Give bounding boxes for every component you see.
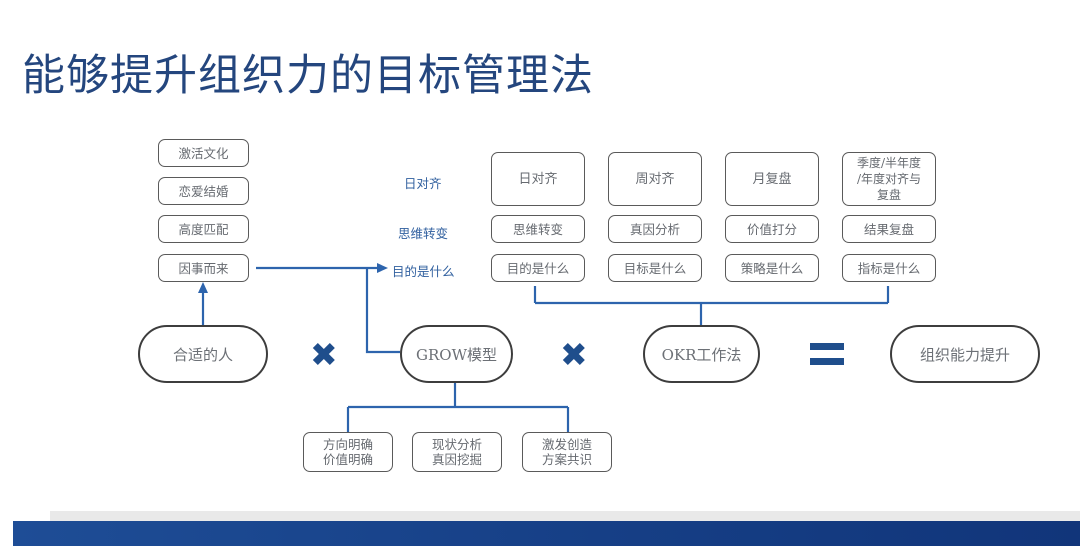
operator-times-2: ✖: [560, 338, 588, 371]
arrowhead-up: [198, 282, 208, 293]
footer-blue-bar: [13, 521, 1080, 546]
matrix-cell-c2-r3[interactable]: 目标是什么: [608, 254, 702, 282]
matrix-cell-c3-r3[interactable]: 策略是什么: [725, 254, 819, 282]
left-box-1-label: 激活文化: [178, 146, 228, 161]
equation-term-4-label: 组织能力提升: [920, 344, 1010, 365]
grow-outcome-box-2-label: 现状分析 真因挖掘: [432, 437, 482, 467]
stage-label-3: 目的是什么: [392, 261, 455, 280]
grow-outcome-box-1[interactable]: 方向明确 价值明确: [303, 432, 393, 472]
matrix-cell-c2-r2[interactable]: 真因分析: [608, 215, 702, 243]
matrix-cell-c4-r3-label: 指标是什么: [858, 261, 921, 276]
equation-term-suitable-people[interactable]: 合适的人: [138, 325, 268, 383]
matrix-cell-c1-r2[interactable]: 思维转变: [491, 215, 585, 243]
matrix-cell-c1-r2-label: 思维转变: [513, 222, 563, 237]
grow-outcome-box-2[interactable]: 现状分析 真因挖掘: [412, 432, 502, 472]
matrix-cell-c4-r3[interactable]: 指标是什么: [842, 254, 936, 282]
equation-term-capability-uplift[interactable]: 组织能力提升: [890, 325, 1040, 383]
matrix-cell-c1-r3-label: 目的是什么: [507, 261, 570, 276]
slide-canvas: 能够提升组织力的目标管理法 激活文化: [0, 0, 1080, 546]
left-box-2[interactable]: 恋爱结婚: [158, 177, 249, 205]
left-box-3[interactable]: 高度匹配: [158, 215, 249, 243]
matrix-cell-c1-r3[interactable]: 目的是什么: [491, 254, 585, 282]
equation-term-okr-method[interactable]: OKR工作法: [643, 325, 760, 383]
matrix-cell-c2-r1-label: 周对齐: [635, 172, 674, 187]
grow-outcome-box-3-label: 激发创造 方案共识: [542, 437, 592, 467]
left-box-2-label: 恋爱结婚: [178, 184, 228, 199]
matrix-cell-c2-r2-label: 真因分析: [630, 222, 680, 237]
equals-bar-top: [810, 343, 844, 350]
arrowhead-right: [377, 263, 388, 273]
left-box-1[interactable]: 激活文化: [158, 139, 249, 167]
stage-label-1: 日对齐: [404, 173, 442, 192]
page-title: 能够提升组织力的目标管理法: [22, 48, 594, 104]
equation-term-3-label: OKR工作法: [662, 344, 742, 365]
matrix-cell-c4-r1[interactable]: 季度/半年度 /年度对齐与 复盘: [842, 152, 936, 206]
left-box-4[interactable]: 因事而来: [158, 254, 249, 282]
operator-times-1: ✖: [310, 338, 338, 371]
matrix-cell-c1-r1-label: 日对齐: [518, 172, 557, 187]
matrix-cell-c1-r1[interactable]: 日对齐: [491, 152, 585, 206]
equation-term-1-label: 合适的人: [173, 344, 233, 365]
left-box-4-label: 因事而来: [178, 261, 228, 276]
matrix-cell-c2-r1[interactable]: 周对齐: [608, 152, 702, 206]
grow-outcome-box-1-label: 方向明确 价值明确: [323, 437, 373, 467]
matrix-cell-c3-r2-label: 价值打分: [747, 222, 797, 237]
matrix-cell-c4-r1-label: 季度/半年度 /年度对齐与 复盘: [857, 155, 921, 203]
equation-term-2-label: GROW模型: [416, 344, 497, 365]
matrix-cell-c4-r2-label: 结果复盘: [864, 222, 914, 237]
left-box-3-label: 高度匹配: [178, 222, 228, 237]
matrix-cell-c3-r1-label: 月复盘: [752, 172, 791, 187]
matrix-cell-c2-r3-label: 目标是什么: [624, 261, 687, 276]
matrix-cell-c3-r2[interactable]: 价值打分: [725, 215, 819, 243]
matrix-cell-c3-r1[interactable]: 月复盘: [725, 152, 819, 206]
equals-bar-bottom: [810, 358, 844, 365]
grow-outcome-box-3[interactable]: 激发创造 方案共识: [522, 432, 612, 472]
matrix-cell-c3-r3-label: 策略是什么: [741, 261, 804, 276]
equation-term-grow-model[interactable]: GROW模型: [400, 325, 513, 383]
operator-equals: [810, 343, 844, 365]
matrix-cell-c4-r2[interactable]: 结果复盘: [842, 215, 936, 243]
stage-label-2: 思维转变: [398, 223, 448, 242]
